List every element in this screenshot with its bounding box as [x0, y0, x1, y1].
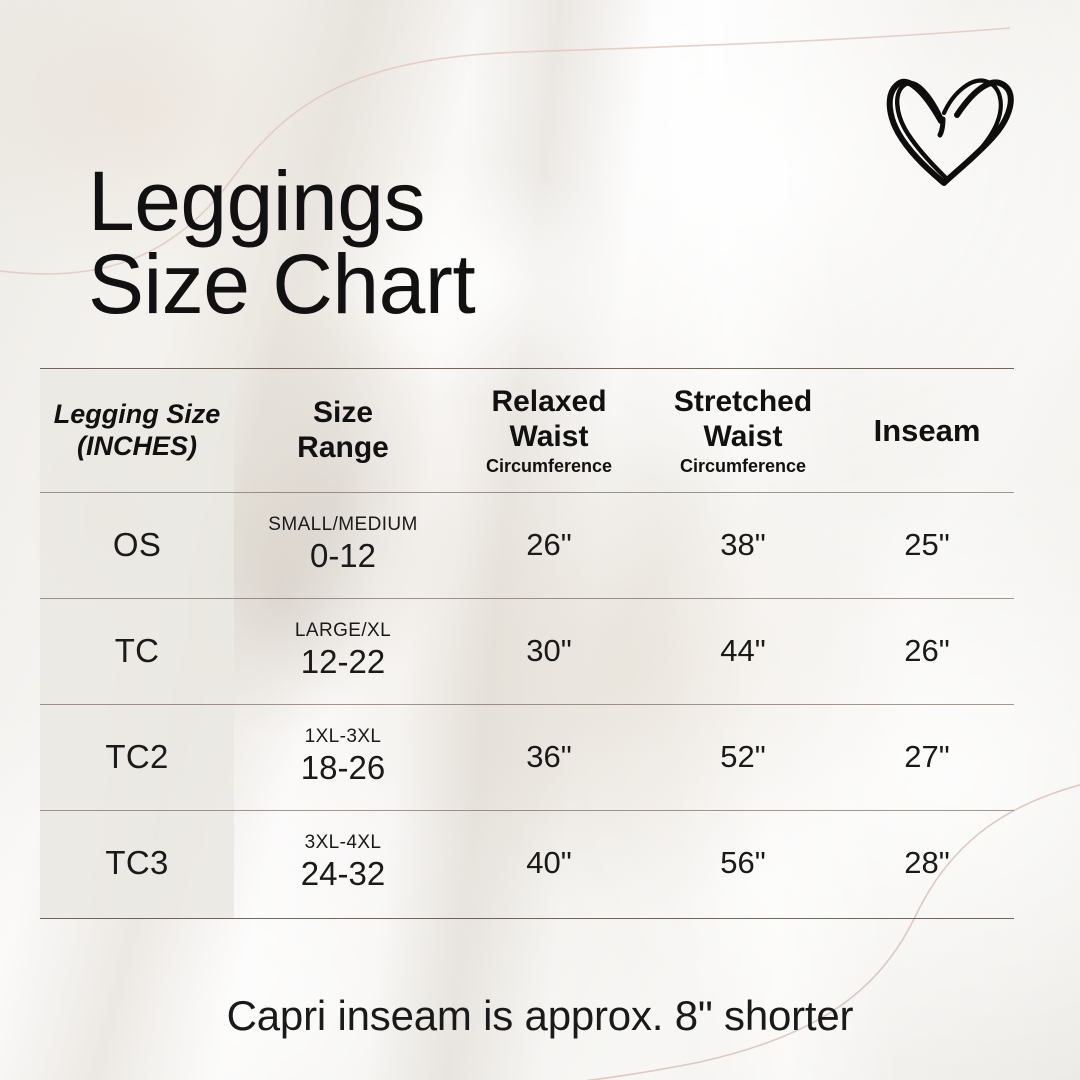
table-row: TC2 1XL-3XL 18-26 36" 52" 27" — [40, 704, 1014, 810]
header-label-size-range: Size Range — [297, 396, 389, 466]
cell-stretched-waist: 52" — [646, 739, 840, 775]
header-label-legging-size: Legging Size (INCHES) — [54, 399, 221, 463]
cell-size-range: 1XL-3XL 18-26 — [234, 727, 452, 788]
value-inseam: 25" — [904, 527, 950, 563]
cell-relaxed-waist: 30" — [452, 633, 646, 669]
value-stretched-waist: 44" — [720, 633, 766, 669]
value-range-label: 1XL-3XL — [305, 727, 382, 748]
cell-relaxed-waist: 26" — [452, 527, 646, 563]
value-relaxed-waist: 40" — [526, 845, 572, 881]
table-row: OS SMALL/MEDIUM 0-12 26" 38" 25" — [40, 492, 1014, 598]
header-sublabel-relaxed-circumference: Circumference — [486, 457, 612, 477]
cell-relaxed-waist: 36" — [452, 739, 646, 775]
table-row: TC LARGE/XL 12-22 30" 44" 26" — [40, 598, 1014, 704]
value-inseam: 28" — [904, 845, 950, 881]
header-label-relaxed-waist: Relaxed Waist — [491, 385, 606, 455]
table-row: TC3 3XL-4XL 24-32 40" 56" 28" — [40, 810, 1014, 916]
value-range-label: SMALL/MEDIUM — [268, 515, 417, 536]
cell-stretched-waist: 44" — [646, 633, 840, 669]
cell-inseam: 25" — [840, 527, 1014, 563]
value-range-label: LARGE/XL — [295, 621, 391, 642]
header-sublabel-stretched-circumference: Circumference — [680, 457, 806, 477]
header-cell-relaxed-waist: Relaxed Waist Circumference — [452, 385, 646, 477]
cell-size-range: LARGE/XL 12-22 — [234, 621, 452, 682]
value-inseam: 26" — [904, 633, 950, 669]
value-relaxed-waist: 30" — [526, 633, 572, 669]
cell-relaxed-waist: 40" — [452, 845, 646, 881]
value-range-label: 3XL-4XL — [305, 833, 382, 854]
table-header-row: Legging Size (INCHES) Size Range Relaxed… — [40, 370, 1014, 492]
value-size: TC2 — [105, 738, 168, 776]
header-cell-legging-size: Legging Size (INCHES) — [40, 399, 234, 463]
value-stretched-waist: 52" — [720, 739, 766, 775]
value-range-numbers: 24-32 — [301, 855, 385, 893]
size-chart-table: Legging Size (INCHES) Size Range Relaxed… — [40, 368, 1014, 920]
header-label-stretched-waist: Stretched Waist — [674, 385, 812, 455]
footer-note: Capri inseam is approx. 8" shorter — [0, 992, 1080, 1040]
header-cell-inseam: Inseam — [840, 414, 1014, 448]
header-label-inseam: Inseam — [874, 414, 981, 448]
table-grid: Legging Size (INCHES) Size Range Relaxed… — [40, 368, 1014, 920]
value-inseam: 27" — [904, 739, 950, 775]
cell-size-range: 3XL-4XL 24-32 — [234, 833, 452, 894]
heart-icon — [880, 55, 1025, 190]
cell-inseam: 26" — [840, 633, 1014, 669]
value-size: TC3 — [105, 844, 168, 882]
value-relaxed-waist: 26" — [526, 527, 572, 563]
cell-stretched-waist: 38" — [646, 527, 840, 563]
heart-icon-container — [880, 55, 1025, 190]
size-chart-canvas: Leggings Size Chart Legging Size (INCHES… — [0, 0, 1080, 1080]
cell-size: TC — [40, 632, 234, 670]
value-stretched-waist: 38" — [720, 527, 766, 563]
cell-size: OS — [40, 526, 234, 564]
header-cell-size-range: Size Range — [234, 396, 452, 466]
value-range-numbers: 12-22 — [301, 643, 385, 681]
cell-size-range: SMALL/MEDIUM 0-12 — [234, 515, 452, 576]
cell-inseam: 28" — [840, 845, 1014, 881]
value-range-numbers: 0-12 — [310, 537, 376, 575]
value-size: TC — [115, 632, 160, 670]
value-range-numbers: 18-26 — [301, 749, 385, 787]
value-size: OS — [113, 526, 161, 564]
cell-inseam: 27" — [840, 739, 1014, 775]
cell-size: TC3 — [40, 844, 234, 882]
page-title: Leggings Size Chart — [88, 160, 788, 326]
cell-stretched-waist: 56" — [646, 845, 840, 881]
value-relaxed-waist: 36" — [526, 739, 572, 775]
value-stretched-waist: 56" — [720, 845, 766, 881]
cell-size: TC2 — [40, 738, 234, 776]
header-cell-stretched-waist: Stretched Waist Circumference — [646, 385, 840, 477]
